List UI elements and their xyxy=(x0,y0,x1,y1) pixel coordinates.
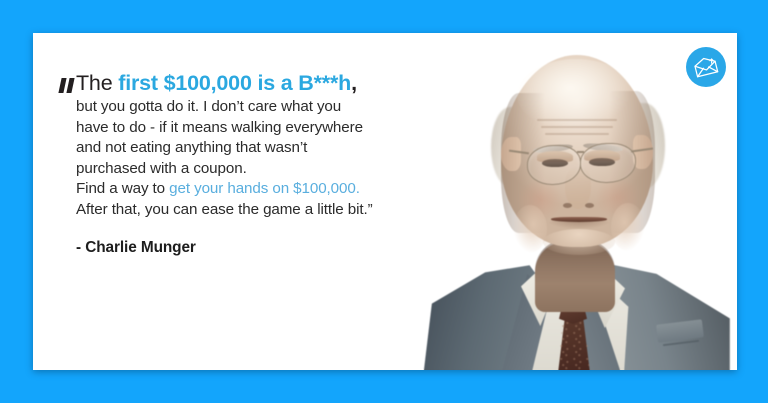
open-quote-icon xyxy=(58,78,75,94)
quote-body: but you gotta do it. I don’t care what y… xyxy=(58,97,433,221)
quote-link[interactable]: get your hands on $100,000. xyxy=(169,180,360,197)
ear-right xyxy=(633,135,653,169)
headline-accent: first $100,000 is a B***h xyxy=(118,71,351,95)
jowl-right xyxy=(611,203,645,251)
quote-headline: The first $100,000 is a B***h, xyxy=(58,71,433,96)
portrait-image xyxy=(405,33,737,370)
headline-prefix: The xyxy=(76,71,118,95)
brand-logo-badge[interactable] xyxy=(686,47,726,87)
quote-line-last: After that, you can ease the game a litt… xyxy=(76,200,433,221)
headline-suffix: , xyxy=(351,71,357,95)
quote-block: The first $100,000 is a B***h, but you g… xyxy=(58,71,433,258)
quote-line-find: Find a way to get your hands on $100,000… xyxy=(76,179,433,200)
forehead-wrinkle xyxy=(545,133,609,135)
forehead-wrinkle xyxy=(537,119,617,121)
mouth xyxy=(551,217,607,222)
quote-card: The first $100,000 is a B***h, but you g… xyxy=(33,33,737,370)
quote-line: have to do - if it means walking everywh… xyxy=(76,118,433,139)
chin xyxy=(543,229,615,255)
eyeglass-bridge xyxy=(577,151,584,153)
quote-card-stage: The first $100,000 is a B***h, but you g… xyxy=(0,0,768,403)
quote-line: purchased with a coupon. xyxy=(76,159,433,180)
quote-line: and not eating anything that wasn’t xyxy=(76,138,433,159)
find-prefix: Find a way to xyxy=(76,180,169,197)
quote-attribution: - Charlie Munger xyxy=(58,238,433,258)
quote-line: but you gotta do it. I don’t care what y… xyxy=(76,97,433,118)
envelope-mail-icon xyxy=(693,56,719,78)
ear-left xyxy=(501,137,521,171)
forehead-wrinkle xyxy=(541,126,613,128)
jowl-left xyxy=(513,205,547,253)
nostril-right xyxy=(585,203,594,208)
nostril-left xyxy=(563,203,572,208)
